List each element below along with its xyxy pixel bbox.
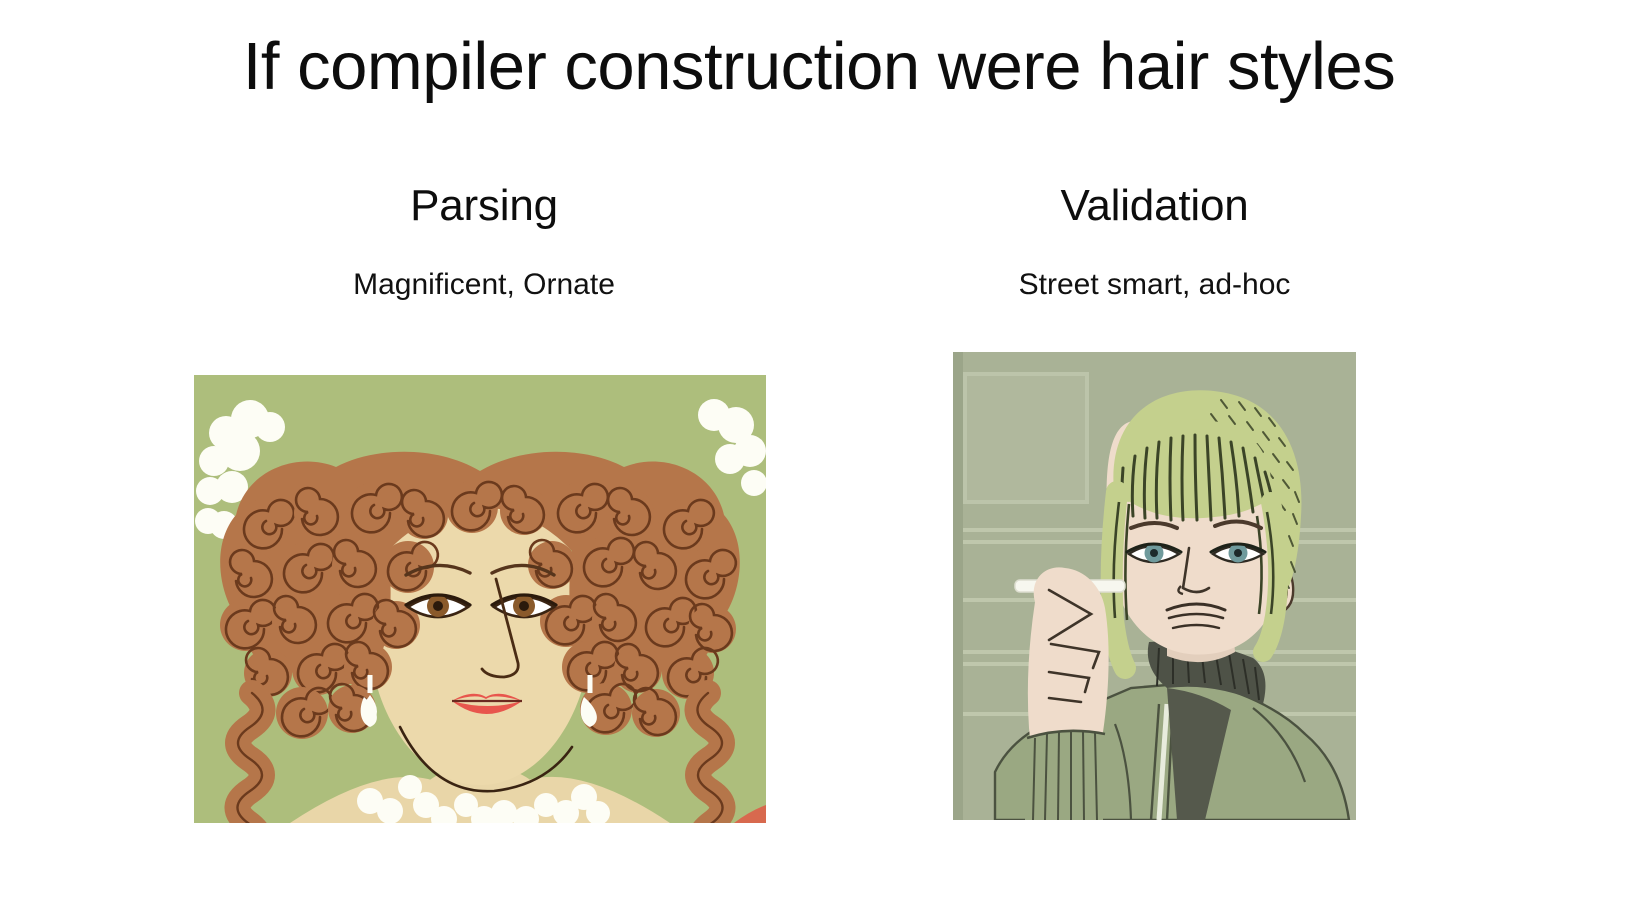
slide-root: If compiler construction were hair style… bbox=[0, 0, 1638, 920]
column-subtitle-validation: Street smart, ad-hoc bbox=[953, 266, 1356, 304]
column-heading-parsing: Parsing bbox=[194, 178, 774, 234]
column-validation: Validation Street smart, ad-hoc bbox=[953, 178, 1356, 304]
page-title: If compiler construction were hair style… bbox=[0, 26, 1638, 108]
illustration-parsing bbox=[194, 375, 766, 823]
column-subtitle-parsing: Magnificent, Ornate bbox=[194, 266, 774, 304]
illustration-validation bbox=[953, 352, 1356, 820]
column-heading-validation: Validation bbox=[953, 178, 1356, 234]
column-parsing: Parsing Magnificent, Ornate bbox=[194, 178, 774, 304]
